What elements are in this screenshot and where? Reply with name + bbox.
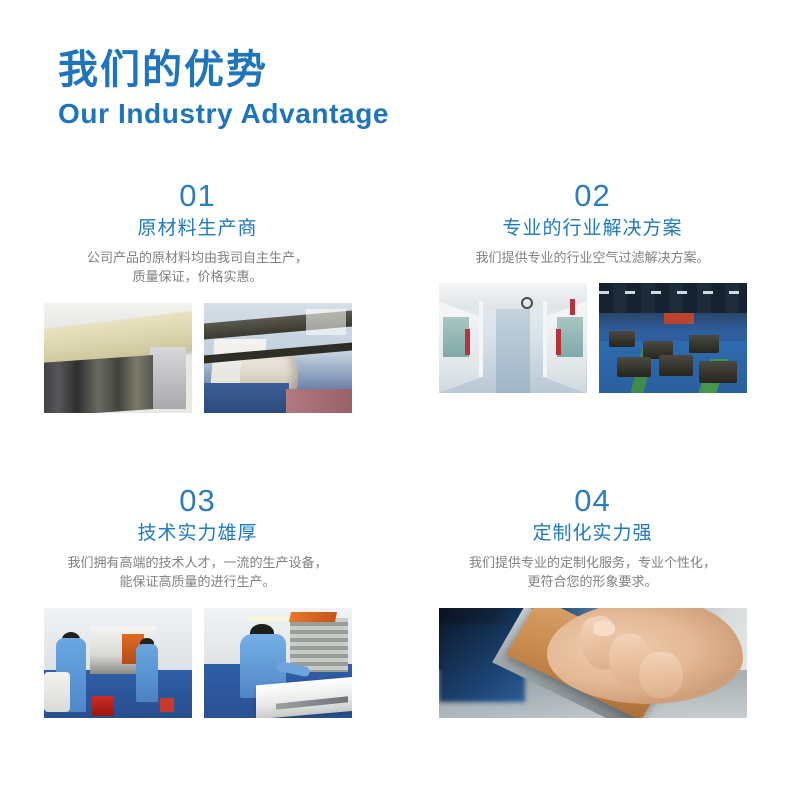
card-title: 原材料生产商 bbox=[137, 217, 257, 241]
photo-raw-material-oven-line bbox=[44, 303, 192, 413]
card-number: 04 bbox=[574, 485, 610, 516]
advantage-card-03: 03 技术实力雄厚 我们拥有高端的技术人才，一流的生产设备， 能保证高质量的进行… bbox=[0, 485, 395, 718]
card-description: 公司产品的原材料均由我司自主生产， 质量保证，价格实惠。 bbox=[87, 248, 308, 287]
advantage-card-01: 01 原材料生产商 公司产品的原材料均由我司自主生产， 质量保证，价格实惠。 bbox=[0, 180, 395, 413]
page-header: 我们的优势 Our Industry Advantage bbox=[58, 48, 658, 130]
photo-worker-cutting-panel bbox=[204, 608, 352, 718]
card-photo-strip bbox=[44, 608, 352, 718]
photo-fabric-roll-frame bbox=[204, 303, 352, 413]
card-number: 01 bbox=[179, 180, 215, 211]
advantage-row-1: 01 原材料生产商 公司产品的原材料均由我司自主生产， 质量保证，价格实惠。 bbox=[0, 180, 790, 413]
advantage-page: 我们的优势 Our Industry Advantage 01 原材料生产商 公… bbox=[0, 0, 790, 790]
card-photo-strip bbox=[44, 303, 352, 413]
card-title: 技术实力雄厚 bbox=[137, 522, 257, 546]
advantage-card-02: 02 专业的行业解决方案 我们提供专业的行业空气过滤解决方案。 bbox=[395, 180, 790, 413]
photo-custom-wooden-stamp: 专业定制 bbox=[439, 608, 747, 718]
advantage-card-04: 04 定制化实力强 我们提供专业的定制化服务，专业个性化， 更符合您的形象要求。… bbox=[395, 485, 790, 718]
card-photo-strip: 专业定制 bbox=[439, 608, 747, 718]
card-photo-strip bbox=[439, 283, 747, 393]
card-description: 我们提供专业的行业空气过滤解决方案。 bbox=[475, 248, 709, 268]
card-title: 专业的行业解决方案 bbox=[502, 217, 682, 241]
card-description: 我们提供专业的定制化服务，专业个性化， 更符合您的形象要求。 bbox=[469, 553, 716, 592]
advantage-row-2: 03 技术实力雄厚 我们拥有高端的技术人才，一流的生产设备， 能保证高质量的进行… bbox=[0, 485, 790, 718]
page-title-en: Our Industry Advantage bbox=[58, 97, 658, 130]
page-title-cn: 我们的优势 bbox=[58, 48, 658, 93]
card-number: 03 bbox=[179, 485, 215, 516]
card-description: 我们拥有高端的技术人才，一流的生产设备， 能保证高质量的进行生产。 bbox=[67, 553, 327, 592]
card-title: 定制化实力强 bbox=[532, 522, 652, 546]
photo-cleanroom-workers bbox=[44, 608, 192, 718]
photo-machining-workshop bbox=[599, 283, 747, 393]
photo-subway-train-interior bbox=[439, 283, 587, 393]
card-number: 02 bbox=[574, 180, 610, 211]
advantage-grid: 01 原材料生产商 公司产品的原材料均由我司自主生产， 质量保证，价格实惠。 bbox=[0, 180, 790, 718]
